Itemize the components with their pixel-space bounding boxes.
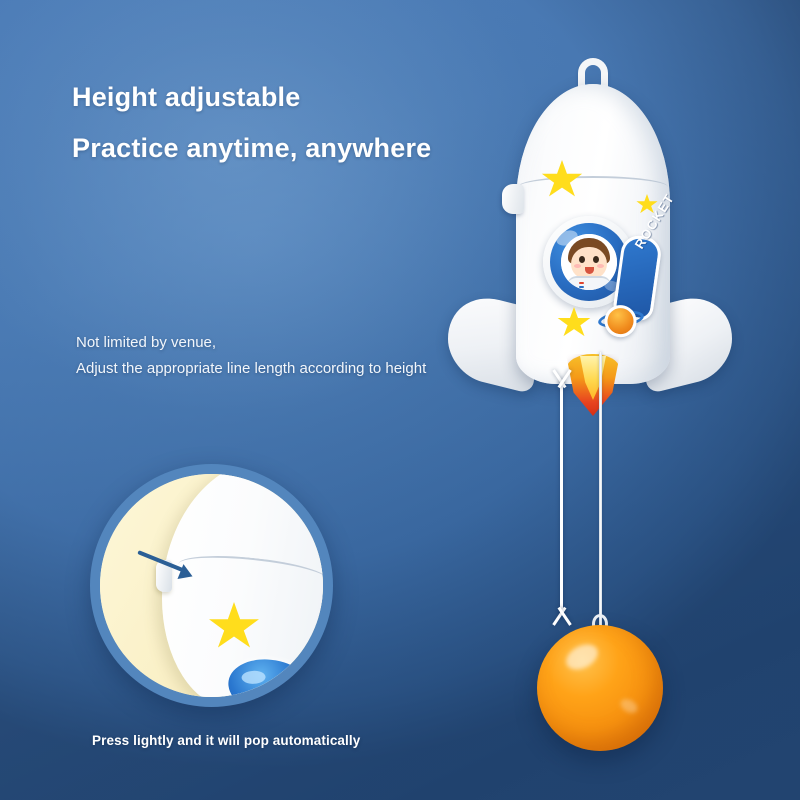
subtext-block: Not limited by venue, Adjust the appropr…	[76, 330, 426, 382]
button-detail-inset	[90, 464, 333, 707]
astronaut-cheek-left	[574, 264, 581, 268]
inset-inner-circle	[100, 474, 323, 697]
height-adjust-double-arrow-icon	[548, 370, 576, 625]
astronaut-face	[571, 247, 607, 279]
subtext-line-1: Not limited by venue,	[76, 330, 426, 356]
subtext-line-2: Adjust the appropriate line length accor…	[76, 356, 426, 382]
headline-line-2: Practice anytime, anywhere	[72, 133, 431, 164]
astronaut-boy-icon	[561, 234, 617, 290]
headline-block: Height adjustable Practice anytime, anyw…	[72, 82, 431, 164]
pointer-arrow-icon	[138, 546, 200, 576]
rocket-toy: ROCKET	[470, 58, 710, 378]
rocket-body-seam	[518, 176, 668, 198]
arrow-head-down	[548, 605, 576, 625]
arrow-head-up	[548, 370, 576, 390]
hanging-cord[interactable]	[599, 352, 602, 632]
product-feature-banner: Height adjustable Practice anytime, anyw…	[0, 0, 800, 800]
astronaut-suit	[567, 276, 611, 290]
headline-line-1: Height adjustable	[72, 82, 431, 113]
astronaut-eye-right	[593, 256, 599, 263]
rocket-side-press-button[interactable]	[502, 184, 524, 214]
inset-caption: Press lightly and it will pop automatica…	[92, 733, 360, 748]
pointer-arrow-shaft	[137, 550, 187, 573]
orange-practice-ball	[537, 625, 663, 751]
astronaut-eye-left	[579, 256, 585, 263]
arrow-shaft	[560, 380, 563, 615]
astronaut-cheek-right	[597, 264, 604, 268]
